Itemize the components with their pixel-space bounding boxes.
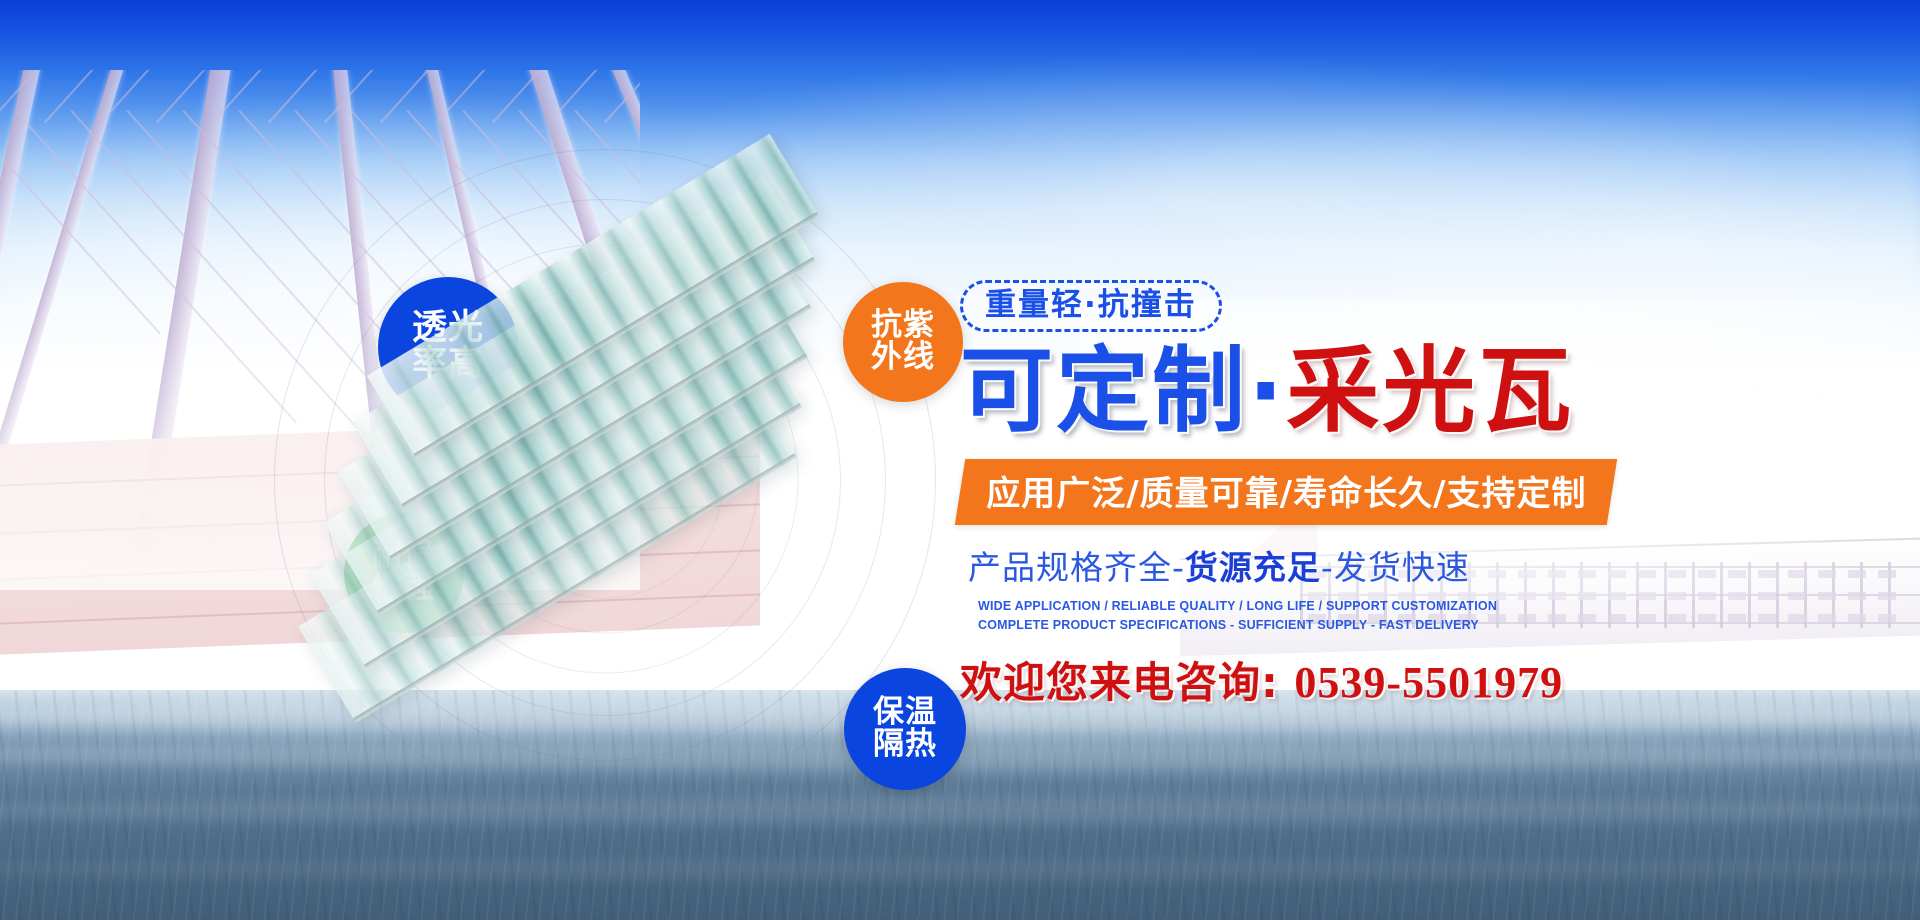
english-subtitle: WIDE APPLICATION / RELIABLE QUALITY / LO… [978,597,1860,636]
english-line-2: COMPLETE PRODUCT SPECIFICATIONS - SUFFIC… [978,616,1860,635]
english-line-1: WIDE APPLICATION / RELIABLE QUALITY / LO… [978,597,1860,616]
headline-part-1: 可定制 [960,337,1248,445]
tagline-pill-wrap: 重量轻·抗撞击 [960,280,1860,332]
contact-phone[interactable]: 欢迎您来电咨询: 0539-5501979 [960,649,1860,710]
phone-number: 0539-5501979 [1294,658,1563,707]
headline-separator: · [1248,337,1286,445]
feature-bar-label: 应用广泛/质量可靠/寿命长久/支持定制 [986,466,1586,515]
badge-uv-resistant[interactable]: 抗紫 外线 [843,282,963,402]
marketing-copy: 重量轻·抗撞击 可定制·采光瓦 应用广泛/质量可靠/寿命长久/支持定制 产品规格… [960,280,1860,710]
badge-line-1: 保温 [873,697,937,729]
badge-line-2: 外线 [871,342,935,374]
badge-thermal-insulation[interactable]: 保温 隔热 [844,668,966,790]
badge-line-1: 抗紫 [871,310,935,342]
badge-line-2: 隔热 [873,729,937,761]
subline-bold: 货源充足 [1185,548,1321,587]
subline-before: 产品规格齐全- [968,548,1185,587]
wave-crest [0,858,1920,880]
feature-bar: 应用广泛/质量可靠/寿命长久/支持定制 [955,459,1618,525]
supply-subline: 产品规格齐全-货源充足-发货快速 [968,541,1860,589]
headline: 可定制·采光瓦 [960,342,1860,441]
orange-bar-wrap: 应用广泛/质量可靠/寿命长久/支持定制 [960,441,1860,525]
tagline-pill: 重量轻·抗撞击 [960,280,1222,332]
product-banner: 透光 率高 抗紫 外线 耐候 性强 保温 隔热 重量轻·抗撞击 可定制·采光瓦 [0,0,1920,920]
ship-window [1878,614,1896,622]
headline-part-2: 采光瓦 [1286,337,1574,445]
subline-after: -发货快速 [1321,548,1470,587]
phone-label: 欢迎您来电咨询: [960,658,1279,707]
